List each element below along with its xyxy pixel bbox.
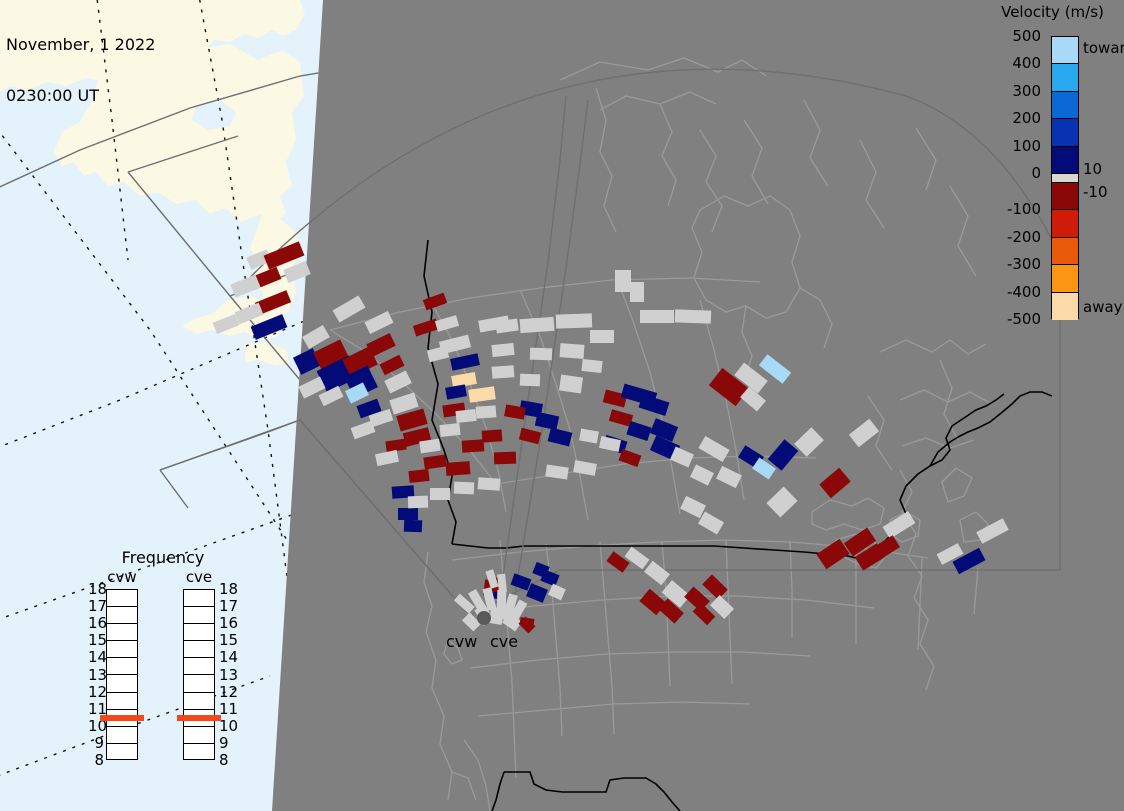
velocity-cell — [675, 309, 711, 323]
frequency-cell — [107, 624, 137, 641]
frequency-bar-cve — [183, 589, 215, 760]
frequency-cell — [107, 693, 137, 710]
velocity-cell — [404, 520, 422, 533]
velocity-cell — [590, 330, 614, 343]
radar-label-cvw: cvw — [446, 632, 477, 651]
frequency-column-header-cve: cve — [174, 568, 224, 586]
frequency-cell — [184, 590, 214, 607]
timestamp-date: November, 1 2022 — [6, 36, 155, 53]
frequency-tick: 11 — [219, 700, 238, 718]
colorbar-swatch — [1052, 37, 1078, 64]
frequency-cell — [184, 658, 214, 675]
colorbar-swatches — [1051, 36, 1079, 319]
colorbar-tick: 500 — [1012, 27, 1041, 45]
velocity-cell — [520, 317, 555, 333]
frequency-cell — [184, 607, 214, 624]
colorbar-swatch — [1052, 119, 1078, 146]
frequency-bar-cvw — [106, 589, 138, 760]
colorbar-tick-labels: 5004003002001000-100-200-300-400-500 — [975, 28, 1045, 328]
velocity-cell — [556, 313, 592, 328]
frequency-cell — [184, 641, 214, 658]
frequency-cell — [184, 675, 214, 692]
velocity-cell — [408, 469, 429, 483]
frequency-tick: 13 — [219, 666, 238, 684]
frequency-tick: 9 — [88, 734, 104, 752]
colorbar-tick: -300 — [1007, 255, 1041, 273]
frequency-tick: 8 — [88, 751, 104, 769]
frequency-cell — [107, 727, 137, 744]
radar-label-cve: cve — [490, 632, 518, 651]
colorbar-label-lower-threshold: -10 — [1083, 183, 1108, 201]
velocity-cell — [520, 374, 540, 387]
frequency-tick: 15 — [219, 631, 238, 649]
colorbar-swatch — [1052, 265, 1078, 292]
colorbar-tick: 100 — [1012, 137, 1041, 155]
velocity-cell — [430, 488, 450, 500]
colorbar-tick: -400 — [1007, 283, 1041, 301]
frequency-cell — [184, 693, 214, 710]
timestamp-time: 0230:00 UT — [6, 87, 155, 104]
timestamp: November, 1 2022 0230:00 UT — [6, 2, 155, 138]
colorbar-swatch — [1052, 64, 1078, 91]
colorbar-label-toward: toward — [1083, 39, 1124, 57]
colorbar-side-labels: toward10-10away — [1083, 28, 1124, 328]
frequency-tick: 17 — [219, 597, 238, 615]
frequency-tick: 15 — [88, 631, 104, 649]
frequency-tick: 12 — [88, 683, 104, 701]
colorbar-swatch — [1052, 210, 1078, 237]
velocity-cell — [559, 375, 583, 394]
frequency-tick: 9 — [219, 734, 229, 752]
frequency-tick: 18 — [219, 580, 238, 598]
velocity-cell — [439, 423, 460, 437]
frequency-marker — [177, 715, 221, 721]
velocity-cell — [492, 365, 515, 379]
colorbar-label-away: away — [1083, 298, 1123, 316]
velocity-cell — [581, 359, 602, 373]
velocity-cell — [494, 452, 516, 465]
frequency-tick: 16 — [88, 614, 104, 632]
frequency-cell — [184, 727, 214, 744]
frequency-cell — [107, 744, 137, 761]
colorbar-tick: 200 — [1012, 109, 1041, 127]
velocity-cell — [560, 343, 585, 359]
velocity-map-figure: November, 1 2022 0230:00 UT Velocity (m/… — [0, 0, 1124, 811]
frequency-cell — [184, 744, 214, 761]
velocity-cell — [482, 429, 503, 442]
velocity-cell — [630, 282, 644, 302]
frequency-legend: Frequency cvw cve 1818171716161515141413… — [88, 548, 238, 774]
velocity-cell — [398, 508, 418, 520]
colorbar-tick: 300 — [1012, 82, 1041, 100]
colorbar-tick: -200 — [1007, 228, 1041, 246]
velocity-cell — [640, 310, 674, 323]
frequency-tick: 18 — [88, 580, 104, 598]
colorbar-tick: 400 — [1012, 54, 1041, 72]
velocity-cell — [615, 270, 631, 292]
colorbar-swatch — [1052, 293, 1078, 320]
velocity-cell — [455, 409, 476, 423]
frequency-tick: 14 — [219, 648, 238, 666]
velocity-cell — [462, 439, 485, 453]
colorbar-tick: 0 — [1031, 164, 1041, 182]
velocity-colorbar: Velocity (m/s) 5004003002001000-100-200-… — [975, 0, 1124, 330]
colorbar-swatch — [1052, 183, 1078, 210]
frequency-tick: 10 — [219, 717, 238, 735]
radar-site-marker — [477, 611, 491, 625]
colorbar-label-upper-threshold: 10 — [1083, 160, 1102, 178]
frequency-tick: 8 — [219, 751, 229, 769]
frequency-cell — [107, 590, 137, 607]
velocity-cell — [476, 405, 497, 418]
frequency-marker — [100, 715, 144, 721]
colorbar-swatch — [1052, 92, 1078, 119]
frequency-tick: 12 — [219, 683, 238, 701]
colorbar-title: Velocity (m/s) — [981, 3, 1124, 21]
frequency-tick: 17 — [88, 597, 104, 615]
colorbar-swatch — [1052, 238, 1078, 265]
frequency-tick: 14 — [88, 648, 104, 666]
colorbar-swatch — [1052, 174, 1078, 183]
frequency-tick: 13 — [88, 666, 104, 684]
frequency-cell — [107, 607, 137, 624]
frequency-cell — [184, 624, 214, 641]
frequency-title: Frequency — [88, 548, 238, 567]
velocity-cell — [478, 477, 501, 491]
frequency-cell — [107, 675, 137, 692]
velocity-cell — [454, 482, 474, 495]
velocity-cell — [446, 461, 471, 476]
colorbar-tick: -100 — [1007, 200, 1041, 218]
velocity-cell — [408, 496, 428, 509]
velocity-cell — [530, 348, 552, 361]
frequency-cell — [107, 658, 137, 675]
colorbar-swatch — [1052, 147, 1078, 174]
colorbar-tick: -500 — [1007, 310, 1041, 328]
frequency-tick: 16 — [219, 614, 238, 632]
frequency-cell — [107, 641, 137, 658]
velocity-cell — [491, 343, 514, 357]
